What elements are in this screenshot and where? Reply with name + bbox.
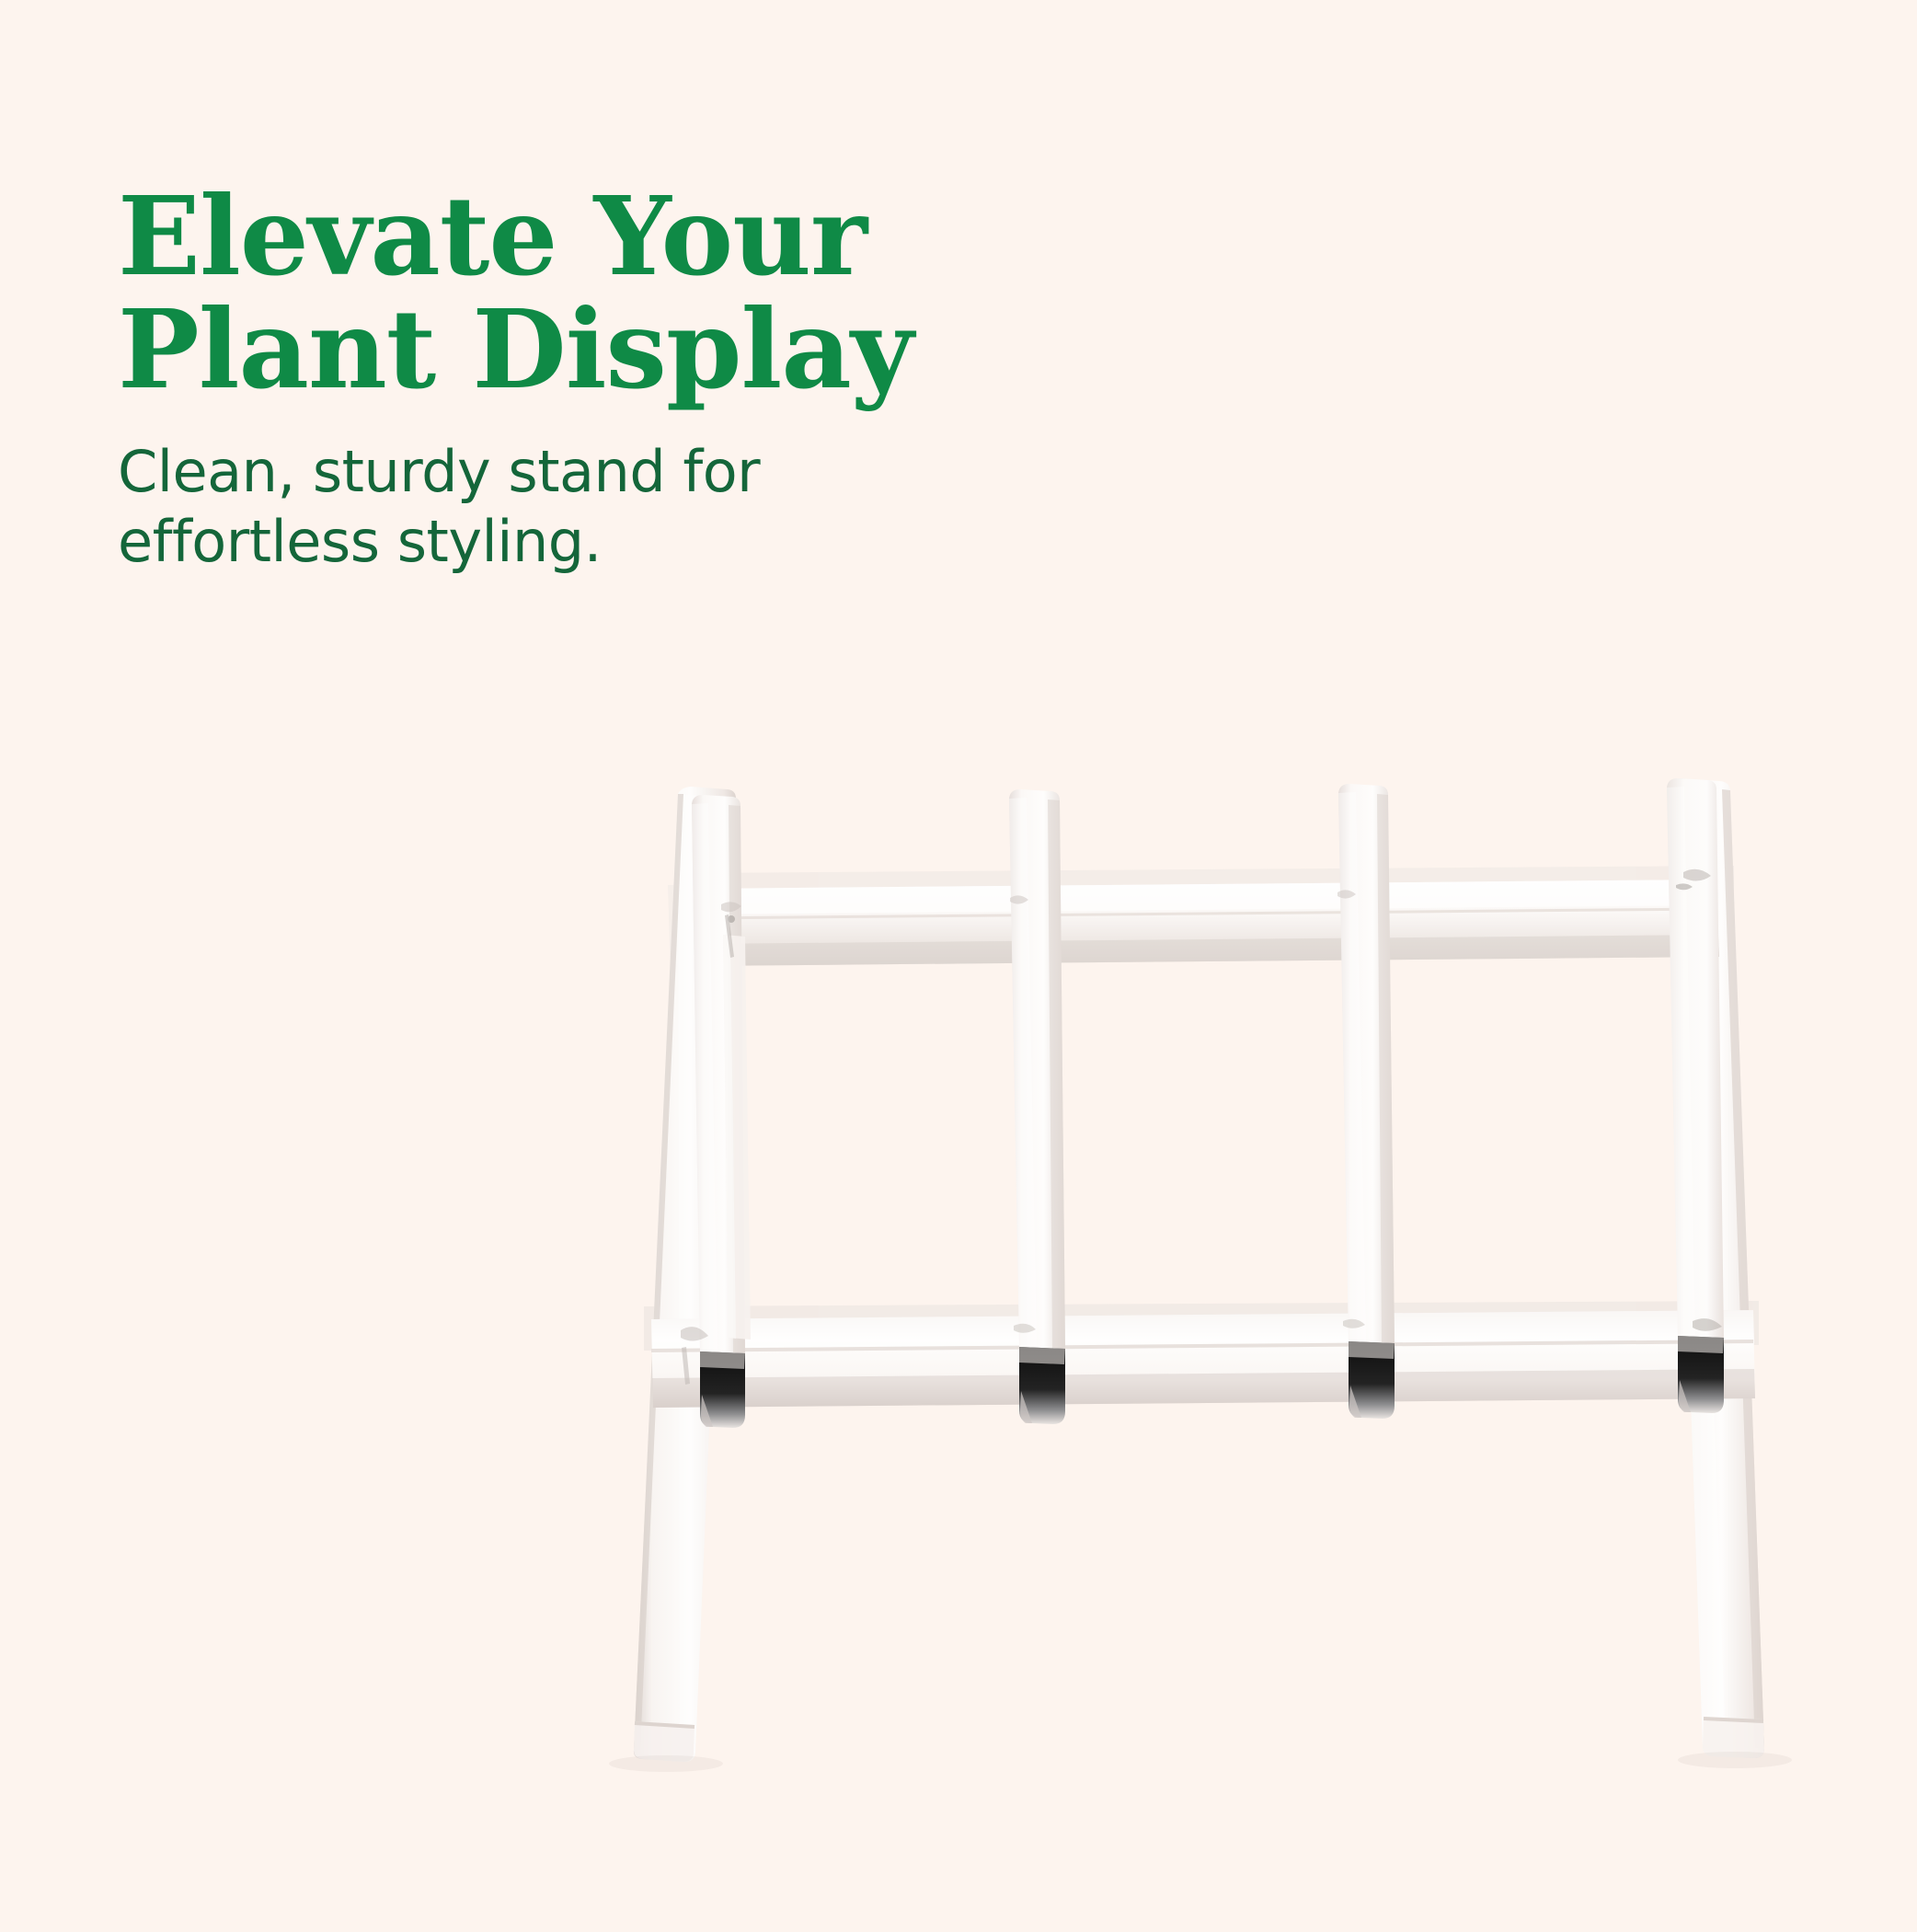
ground-shadow	[609, 1752, 1792, 1772]
promo-card: Elevate Your Plant Display Clean, sturdy…	[0, 0, 1917, 1917]
left-inner-post	[723, 935, 751, 1340]
weld-marks	[681, 869, 1722, 1385]
vertical-slat-3	[1338, 784, 1395, 1419]
subtitle: Clean, sturdy stand for effortless styli…	[118, 437, 1019, 576]
bottom-rail	[651, 1310, 1755, 1408]
top-rail	[695, 880, 1719, 966]
vertical-slat-1	[692, 795, 745, 1428]
text-block: Elevate Your Plant Display Clean, sturdy…	[118, 180, 1019, 577]
vertical-slat-4	[1667, 778, 1724, 1413]
vertical-slat-2	[1009, 789, 1065, 1424]
right-outer-leg	[1670, 778, 1764, 1758]
left-outer-leg	[634, 787, 736, 1762]
page-title: Elevate Your Plant Display	[118, 180, 1019, 406]
stand-far-frame	[644, 866, 1759, 1351]
